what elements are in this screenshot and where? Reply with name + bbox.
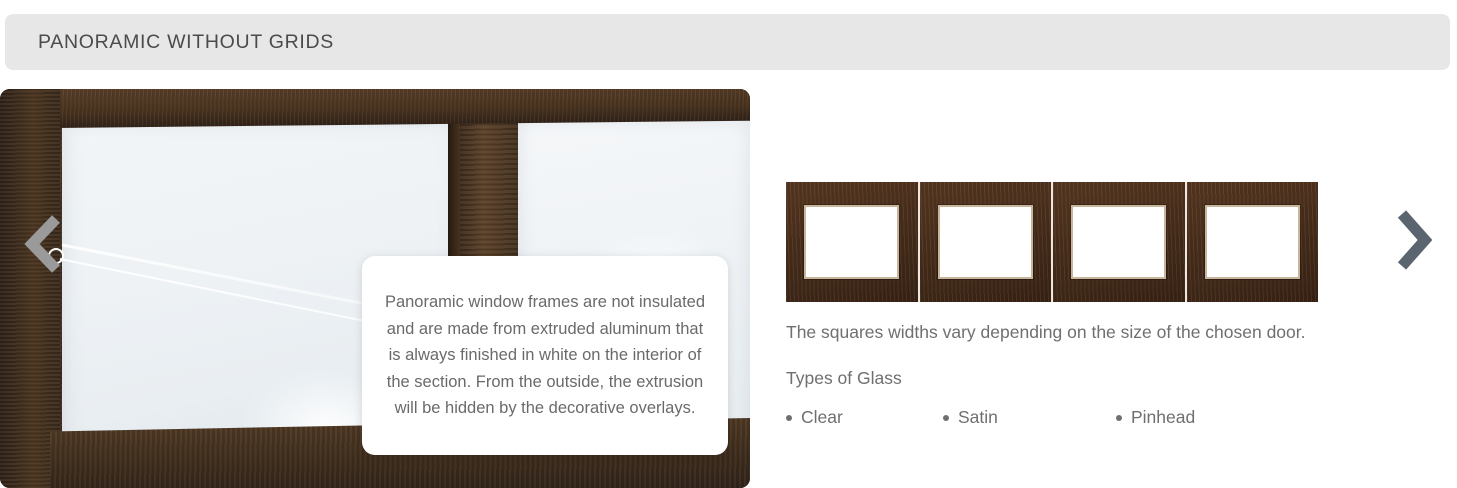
section-header-bar: PANORAMIC WITHOUT GRIDS: [5, 14, 1450, 70]
chevron-right-icon: [1390, 209, 1436, 271]
left-jamb: [0, 89, 60, 488]
bullet-icon: [1116, 415, 1122, 421]
details-panel: The squares widths vary depending on the…: [786, 182, 1326, 428]
door-panel: [920, 182, 1054, 302]
panoramic-window-viewer: PANORAMIC WITHOUT GRIDS Panoramic window…: [0, 0, 1457, 488]
thumbnail-caption: The squares widths vary depending on the…: [786, 318, 1310, 346]
glass-type-label: Pinhead: [1131, 407, 1195, 428]
door-glass-lite: [804, 205, 899, 279]
glass-type-item: Clear: [786, 407, 943, 428]
door-panel: [786, 182, 920, 302]
door-panel: [1187, 182, 1319, 302]
glass-types-list: Clear Satin Pinhead: [786, 407, 1326, 428]
page-title: PANORAMIC WITHOUT GRIDS: [38, 31, 334, 54]
next-slide-button[interactable]: [1390, 209, 1436, 271]
door-glass-lite: [1071, 205, 1166, 279]
glass-type-label: Satin: [958, 407, 998, 428]
glass-type-label: Clear: [801, 407, 843, 428]
door-glass-lite: [938, 205, 1033, 279]
door-glass-lite: [1205, 205, 1300, 279]
glass-types-heading: Types of Glass: [786, 368, 1326, 389]
chevron-left-icon: [24, 215, 68, 273]
info-callout: Panoramic window frames are not insulate…: [362, 256, 728, 455]
glass-type-item: Satin: [943, 407, 1116, 428]
bullet-icon: [943, 415, 949, 421]
prev-slide-button[interactable]: [24, 215, 68, 273]
bullet-icon: [786, 415, 792, 421]
door-panel: [1053, 182, 1187, 302]
glass-type-item: Pinhead: [1116, 407, 1195, 428]
door-thumbnail[interactable]: [786, 182, 1318, 302]
callout-text: Panoramic window frames are not insulate…: [362, 289, 728, 422]
